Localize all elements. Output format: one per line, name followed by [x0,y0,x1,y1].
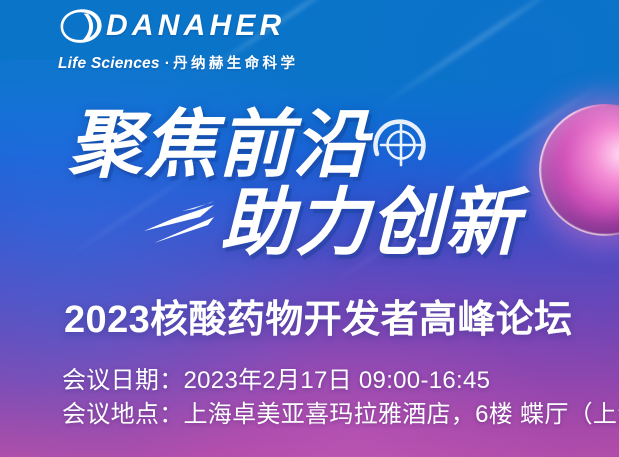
brand-tagline-separator: · [160,55,173,72]
brand-logo-row: DANAHER [58,6,398,46]
conference-banner: DANAHER Life Sciences·丹纳赫生命科学 聚焦前沿 助力创新 [0,0,619,457]
brand-tagline-en: Life Sciences [58,55,160,72]
crosshair-target-icon [370,114,432,176]
brand-logo: DANAHER Life Sciences·丹纳赫生命科学 [58,6,398,78]
event-venue-line: 会议地点：上海卓美亚喜玛拉雅酒店，6楼 蝶厅（上海 [62,398,619,432]
event-date-line: 会议日期：2023年2月17日 09:00-16:45 [62,364,619,398]
headline-line-2-text: 助力创新 [220,186,520,260]
event-details: 会议日期：2023年2月17日 09:00-16:45 会议地点：上海卓美亚喜玛… [62,364,619,432]
event-subtitle: 2023核酸药物开发者高峰论坛 [64,288,573,343]
brand-tagline: Life Sciences·丹纳赫生命科学 [58,52,398,73]
headline-line-1-text: 聚焦前沿 [68,108,368,182]
headline-block: 聚焦前沿 助力创新 [0,108,619,278]
brand-tagline-cn: 丹纳赫生命科学 [173,56,298,72]
arrow-forward-icon [138,201,214,245]
brand-wordmark: DANAHER [106,11,285,41]
headline-line-1: 聚焦前沿 [68,108,432,182]
headline-line-2: 助力创新 [138,186,520,260]
danaher-d-swoosh-icon [58,7,104,45]
